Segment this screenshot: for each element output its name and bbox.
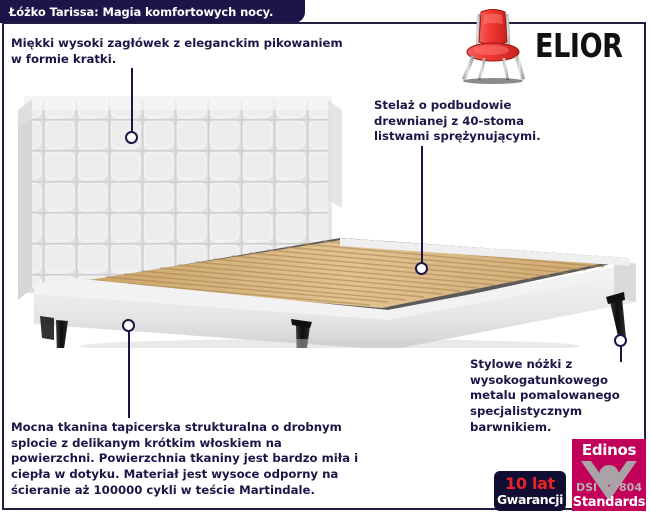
page-title: Łóżko Tarissa: Magia komfortowych nocy. <box>0 5 273 19</box>
callout-slats-text: Stelaż o podbudowie drewnianej z 40-stom… <box>374 98 642 145</box>
edinos-dsi-label: DSI <box>576 481 597 494</box>
warranty-years: 10 lat <box>505 476 555 492</box>
callout-legs-text: Stylowe nóżki z wysokogatunkowego metalu… <box>470 357 646 435</box>
callout-legs-dot[interactable] <box>614 334 627 347</box>
title-bar: Łóżko Tarissa: Magia komfortowych nocy. <box>0 0 305 23</box>
callout-fabric-dot[interactable] <box>122 319 135 332</box>
edinos-number-label: 804 <box>619 481 642 494</box>
callout-slats-dot[interactable] <box>415 262 428 275</box>
brand-logo: ELIOR <box>457 6 642 84</box>
callout-fabric-text: Mocna tkanina tapicerska strukturalna o … <box>11 420 461 498</box>
callout-headboard-dot[interactable] <box>125 131 138 144</box>
warranty-badge: 10 lat Gwarancji <box>494 471 566 511</box>
warranty-label: Gwarancji <box>497 494 563 507</box>
edinos-standards-label: Standards <box>572 495 646 510</box>
callout-fabric-line <box>128 330 130 418</box>
badge-group: 10 lat Gwarancji Edinos DSI 804 Standard… <box>494 439 646 511</box>
callout-headboard-line <box>131 68 133 138</box>
product-infographic: Łóżko Tarissa: Magia komfortowych nocy. <box>0 0 650 514</box>
brand-name: ELIOR <box>535 29 623 62</box>
red-chair-icon <box>457 6 529 84</box>
callout-slats-line <box>421 146 423 268</box>
callout-headboard-text: Miękki wysoki zagłówek z eleganckim piko… <box>11 36 411 67</box>
edinos-standards-badge: Edinos DSI 804 Standards <box>572 439 646 511</box>
edinos-title: Edinos <box>572 441 646 459</box>
